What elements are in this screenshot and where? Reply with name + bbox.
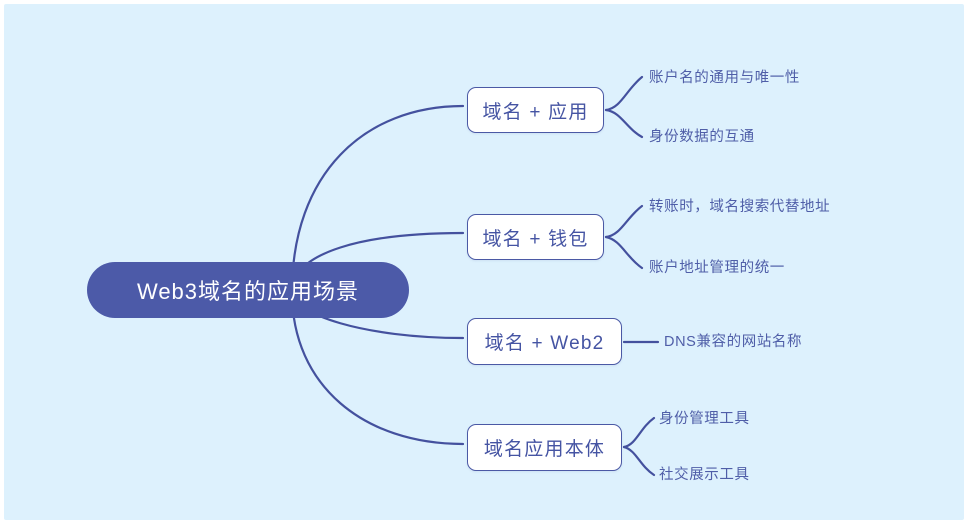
root-node[interactable]: Web3域名的应用场景 — [87, 262, 409, 318]
leaf-node-dns-compatible-site-name[interactable]: DNS兼容的网站名称 — [664, 335, 802, 350]
mindmap-canvas: Web3域名的应用场景 域名 + 应用 域名 + 钱包 域名 + Web2 域名… — [0, 0, 972, 527]
link-branch-3-leaf-0 — [624, 418, 654, 447]
leaf-node-transfer-domain-search[interactable]: 转账时，域名搜索代替地址 — [649, 200, 830, 215]
leaf-node-identity-data-interop[interactable]: 身份数据的互通 — [649, 130, 755, 145]
leaf-node-account-name-uniqueness[interactable]: 账户名的通用与唯一性 — [649, 71, 800, 86]
branch-node-domain-app[interactable]: 域名 + 应用 — [467, 87, 604, 133]
leaf-node-address-management-unified[interactable]: 账户地址管理的统一 — [649, 261, 785, 276]
leaf-node-social-display-tool[interactable]: 社交展示工具 — [659, 468, 750, 483]
branch-node-domain-entity[interactable]: 域名应用本体 — [467, 424, 622, 471]
leaf-node-identity-management-tool[interactable]: 身份管理工具 — [659, 412, 750, 427]
mindmap-stage: Web3域名的应用场景 域名 + 应用 域名 + 钱包 域名 + Web2 域名… — [4, 4, 964, 520]
branch-node-domain-wallet[interactable]: 域名 + 钱包 — [467, 214, 604, 260]
link-branch-3-leaf-1 — [624, 447, 654, 475]
branch-node-domain-web2[interactable]: 域名 + Web2 — [467, 318, 622, 365]
link-branch-1-leaf-0 — [606, 206, 642, 237]
link-branch-0-leaf-0 — [606, 77, 642, 110]
link-branch-0-leaf-1 — [606, 110, 642, 137]
link-branch-1-leaf-1 — [606, 237, 642, 268]
